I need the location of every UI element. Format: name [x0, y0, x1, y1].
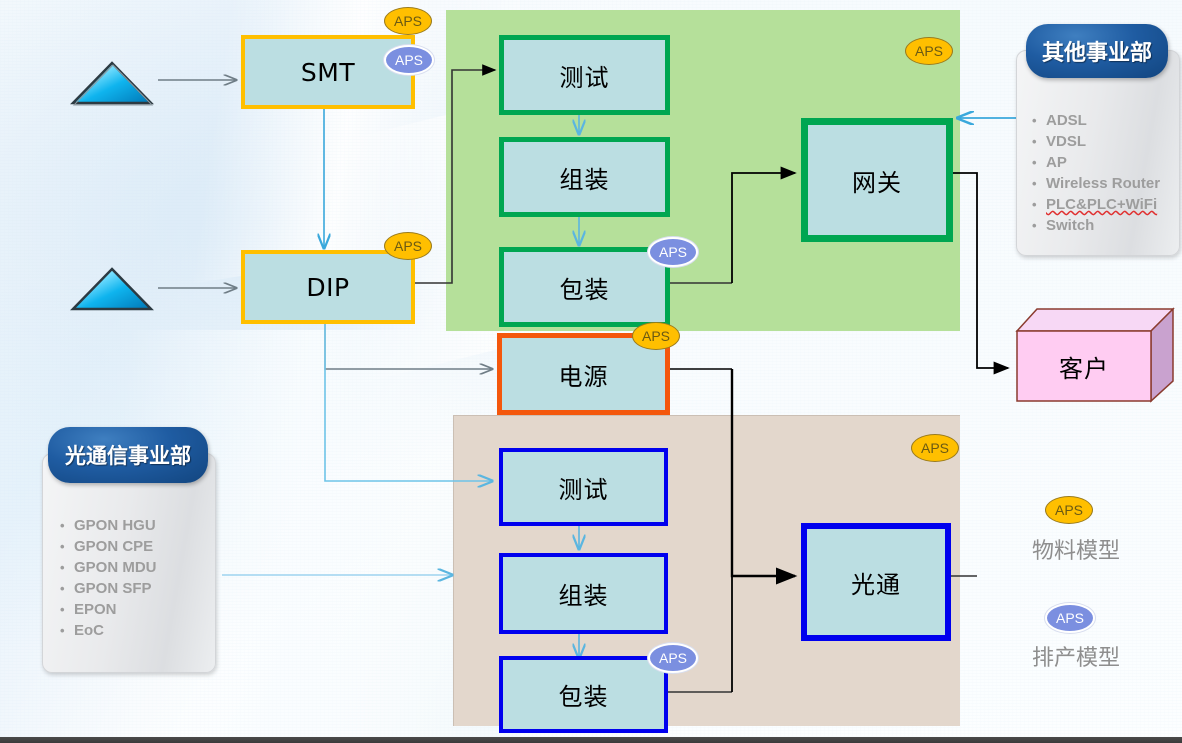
aps-badge-power-material[interactable]: APS [632, 322, 680, 350]
triangle-source-dip [70, 266, 154, 312]
list-item-label: Switch [1046, 215, 1094, 236]
list-item-label: GPON SFP [74, 578, 152, 599]
aps-badge-smt-schedule[interactable]: APS [384, 45, 434, 75]
process-box-dip[interactable]: DIP [241, 250, 415, 324]
list-item: •ADSL [1032, 110, 1182, 131]
list-item: •VDSL [1032, 131, 1182, 152]
panel-other-bu[interactable]: 其他事业部 •ADSL •VDSL •AP •Wireless Router •… [1016, 24, 1178, 254]
panel-other-bu-title: 其他事业部 [1026, 24, 1168, 78]
bullet-dot: • [60, 515, 74, 536]
list-item: •GPON SFP [60, 578, 216, 599]
list-item: •EPON [60, 599, 216, 620]
legend-label-material: 物料模型 [1032, 533, 1120, 565]
customer-label: 客户 [1059, 349, 1109, 384]
panel-other-bu-list: •ADSL •VDSL •AP •Wireless Router •PLC&PL… [1032, 110, 1182, 236]
process-box-green-test[interactable]: 测试 [499, 35, 670, 115]
process-label-power: 电源 [559, 357, 609, 392]
list-item: •PLC&PLC+WiFi [1032, 194, 1182, 215]
bullet-dot: • [60, 536, 74, 557]
process-box-blue-test[interactable]: 测试 [499, 448, 668, 526]
list-item-label: VDSL [1046, 131, 1086, 152]
bullet-dot: • [60, 578, 74, 599]
process-label-blue-pack: 包装 [559, 677, 609, 712]
list-item: •GPON CPE [60, 536, 216, 557]
list-item-label: GPON MDU [74, 557, 157, 578]
process-box-blue-assemble[interactable]: 组装 [499, 553, 668, 634]
process-box-blue-pack[interactable]: 包装 [499, 656, 668, 733]
bullet-dot: • [1032, 131, 1046, 152]
list-item: •Switch [1032, 215, 1182, 236]
list-item-label: GPON CPE [74, 536, 153, 557]
process-label-green-assemble: 组装 [560, 160, 610, 195]
list-item: •GPON HGU [60, 515, 216, 536]
aps-badge-tan-region[interactable]: APS [911, 434, 959, 462]
bullet-dot: • [1032, 152, 1046, 173]
bullet-dot: • [60, 599, 74, 620]
bullet-dot: • [60, 620, 74, 641]
aps-badge-smt-material[interactable]: APS [384, 7, 432, 35]
process-label-green-pack: 包装 [560, 270, 610, 305]
list-item: •Wireless Router [1032, 173, 1182, 194]
aps-badge-green-region[interactable]: APS [905, 37, 953, 65]
list-item: •AP [1032, 152, 1182, 173]
list-item-label: EoC [74, 620, 104, 641]
process-box-green-pack[interactable]: 包装 [499, 247, 670, 327]
list-item-label: AP [1046, 152, 1067, 173]
panel-optical-bu-title: 光通信事业部 [48, 427, 208, 483]
list-item: •EoC [60, 620, 216, 641]
aps-badge-dip-material[interactable]: APS [384, 232, 432, 260]
process-label-blue-test: 测试 [559, 470, 609, 505]
legend-label-schedule: 排产模型 [1032, 640, 1120, 672]
bullet-dot: • [60, 557, 74, 578]
process-label-blue-assemble: 组装 [559, 576, 609, 611]
diagram-canvas: SMT DIP 测试 组装 包装 电源 网关 测试 组装 包装 光通 [0, 0, 1182, 743]
bullet-dot: • [1032, 173, 1046, 194]
customer-cube[interactable]: 客户 [1015, 307, 1175, 403]
aps-badge-green-pack-schedule[interactable]: APS [648, 237, 698, 267]
process-box-gateway[interactable]: 网关 [801, 118, 953, 242]
panel-optical-bu-list: •GPON HGU •GPON CPE •GPON MDU •GPON SFP … [60, 515, 216, 641]
panel-optical-bu[interactable]: 光通信事业部 •GPON HGU •GPON CPE •GPON MDU •GP… [42, 427, 214, 672]
process-box-smt[interactable]: SMT [241, 35, 415, 109]
process-label-green-test: 测试 [560, 58, 610, 93]
aps-badge-blue-pack-schedule[interactable]: APS [648, 643, 698, 673]
process-box-optical[interactable]: 光通 [801, 523, 951, 641]
bullet-dot: • [1032, 110, 1046, 131]
process-label-gateway: 网关 [852, 163, 902, 198]
triangle-source-smt [70, 60, 154, 106]
legend-badge-schedule: APS [1045, 603, 1095, 633]
list-item-label: Wireless Router [1046, 173, 1160, 194]
list-item-label: ADSL [1046, 110, 1087, 131]
bullet-dot: • [1032, 215, 1046, 236]
list-item-label: GPON HGU [74, 515, 156, 536]
list-item-label-misspelled: PLC&PLC+WiFi [1046, 194, 1157, 215]
process-box-green-assemble[interactable]: 组装 [499, 137, 670, 217]
legend-badge-material: APS [1045, 496, 1093, 524]
bullet-dot: • [1032, 194, 1046, 215]
footer-bar [0, 737, 1182, 743]
process-label-optical: 光通 [851, 565, 901, 600]
list-item-label: EPON [74, 599, 117, 620]
process-label-dip: DIP [306, 273, 349, 302]
process-label-smt: SMT [301, 58, 355, 87]
list-item: •GPON MDU [60, 557, 216, 578]
